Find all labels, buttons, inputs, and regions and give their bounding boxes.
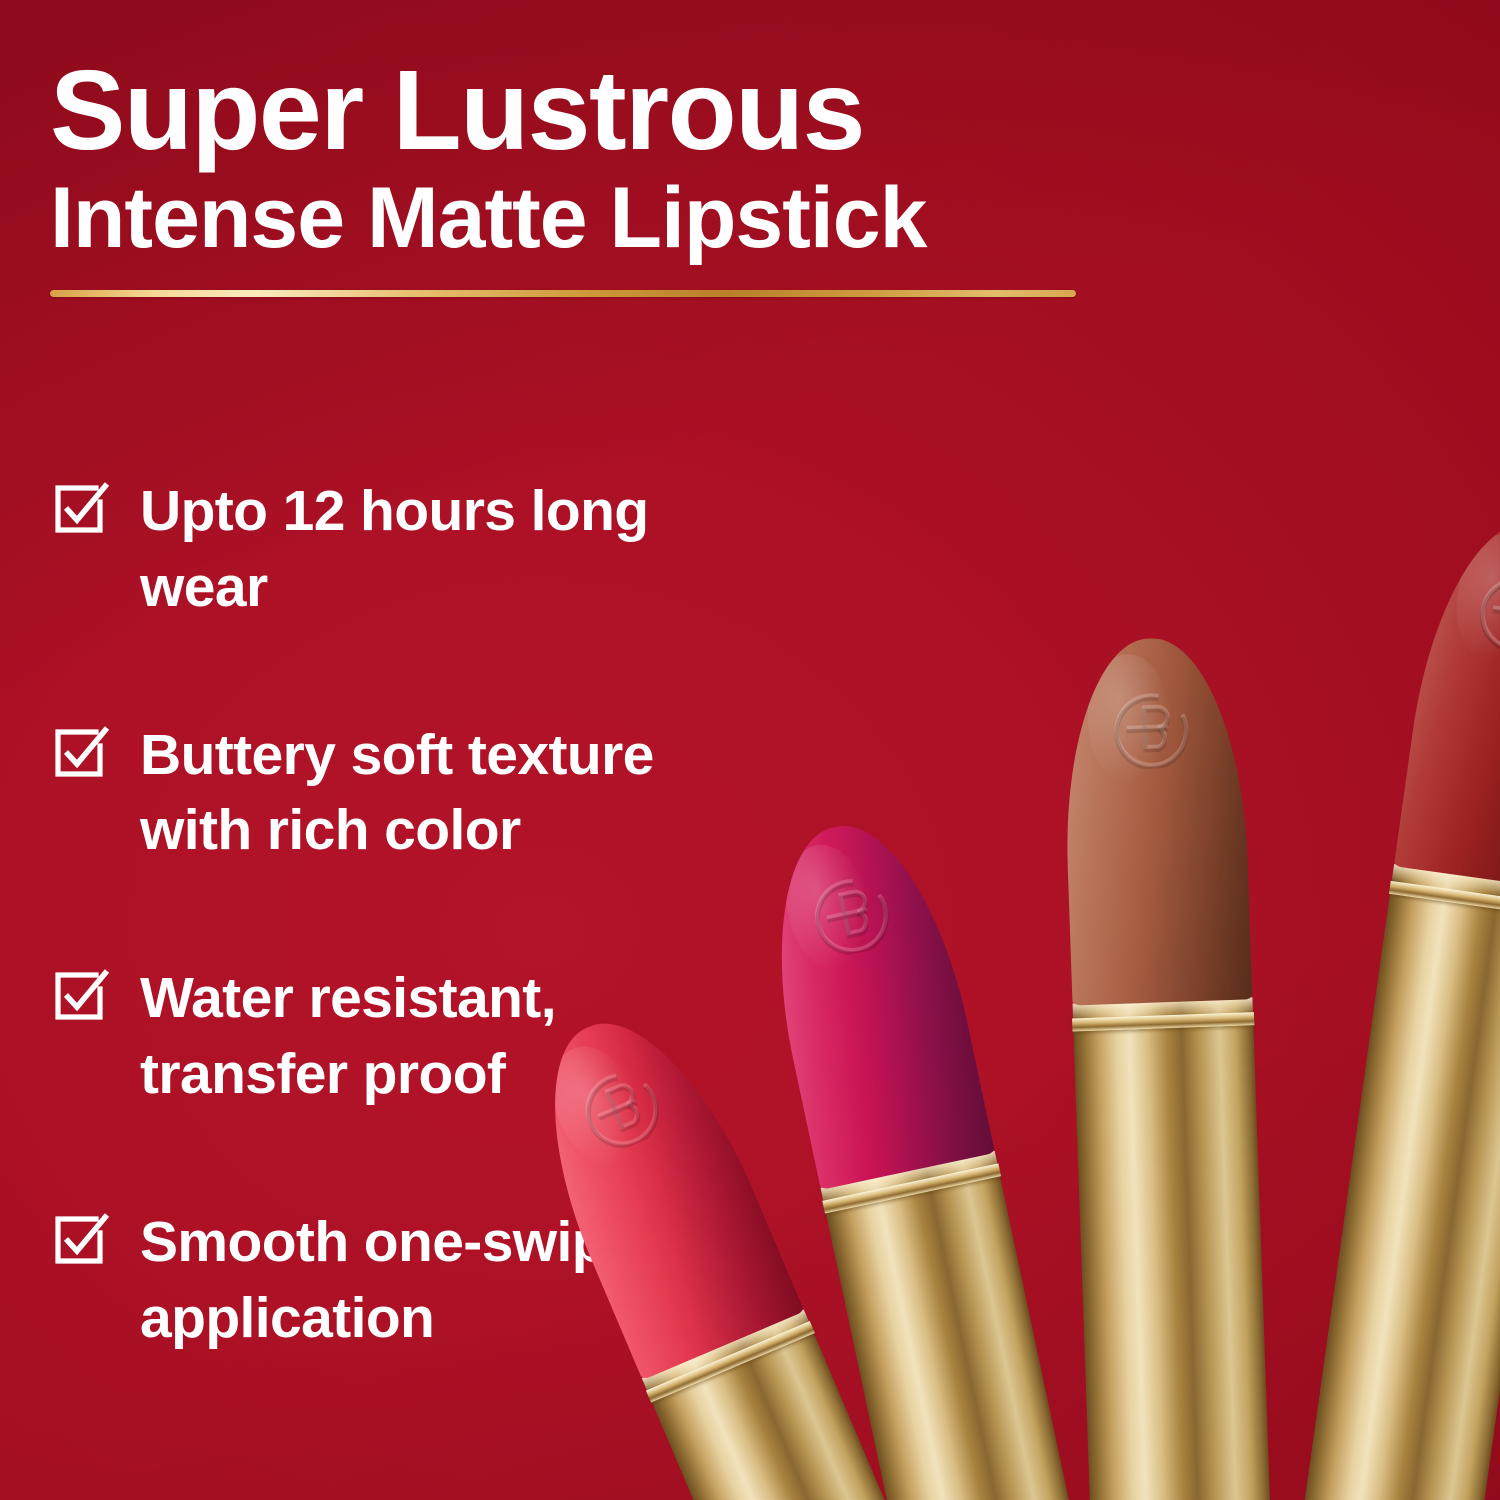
product-title-line2: Intense Matte Lipstick [50, 170, 1230, 266]
checkbox-checked-icon [52, 1209, 110, 1267]
checkbox-checked-icon [52, 722, 110, 780]
feature-item: Water resistant, transfer proof [52, 961, 792, 1113]
feature-item: Buttery soft texture with rich color [52, 718, 792, 870]
checkbox-checked-icon [52, 478, 110, 536]
feature-list: Upto 12 hours long wear Buttery soft tex… [52, 474, 792, 1356]
feature-item: Smooth one-swipe application [52, 1205, 792, 1357]
feature-label: Upto 12 hours long wear [140, 474, 760, 626]
headline-block: Super Lustrous Intense Matte Lipstick [50, 52, 1230, 267]
feature-item: Upto 12 hours long wear [52, 474, 792, 626]
feature-label: Buttery soft texture with rich color [140, 718, 760, 870]
feature-label: Smooth one-swipe application [140, 1205, 760, 1357]
product-feature-banner: Super Lustrous Intense Matte Lipstick Up… [0, 0, 1500, 1500]
gold-divider [50, 290, 1076, 297]
product-title-line1: Super Lustrous [50, 52, 1230, 168]
feature-label: Water resistant, transfer proof [140, 961, 760, 1113]
checkbox-checked-icon [52, 965, 110, 1023]
